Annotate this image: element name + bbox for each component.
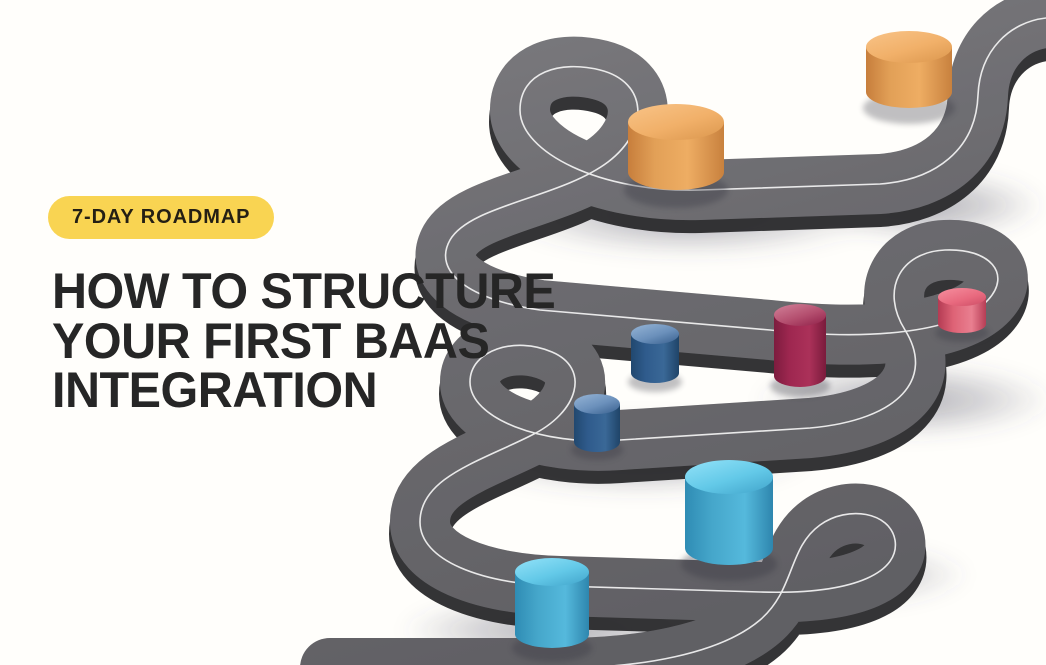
cylinder-marker-icon-3	[935, 288, 989, 342]
cylinder-marker-icon-8	[512, 558, 592, 662]
cylinder-marker-icon-5	[628, 324, 682, 392]
cylinder-marker-icon-2	[624, 104, 728, 208]
roadmap-hero-banner: 7-DAY ROADMAP HOW TO STRUCTURE YOUR FIRS…	[0, 0, 1046, 665]
cylinder-marker-icon-7	[681, 460, 777, 581]
cylinder-marker-icon-1	[863, 31, 955, 124]
roadmap-badge: 7-DAY ROADMAP	[48, 196, 274, 239]
cylinder-marker-icon-4	[770, 304, 830, 397]
page-title: HOW TO STRUCTURE YOUR FIRST BAAS INTEGRA…	[52, 267, 566, 416]
hero-text-column: 7-DAY ROADMAP HOW TO STRUCTURE YOUR FIRS…	[48, 196, 588, 416]
